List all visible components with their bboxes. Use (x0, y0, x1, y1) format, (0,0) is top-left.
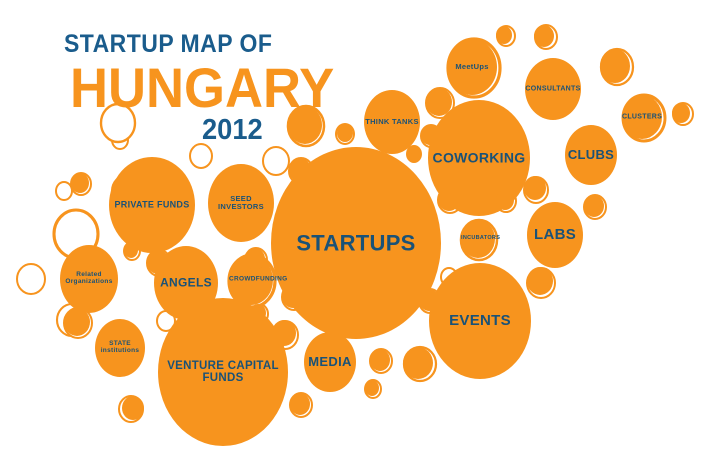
bubble-events[interactable] (429, 263, 531, 379)
decorative-bubble (290, 393, 310, 415)
decorative-bubble (534, 25, 554, 47)
bubble-private-funds[interactable] (109, 157, 195, 253)
decorative-bubble (282, 284, 304, 308)
bubble-meetups[interactable] (447, 39, 497, 95)
title-line-hungary: HUNGARY (70, 59, 334, 116)
decorative-bubble (147, 250, 169, 274)
decorative-bubble (584, 195, 604, 217)
bubble-clubs[interactable] (565, 125, 617, 185)
decorative-bubble (289, 158, 311, 182)
title-block: STARTUP MAP OF HUNGARY 2012 (64, 32, 351, 145)
title-line-startup-map-of: STARTUP MAP OF (64, 32, 328, 57)
decorative-bubble (406, 145, 422, 163)
decorative-bubble (403, 347, 433, 379)
bubble-think-tanks[interactable] (364, 90, 420, 154)
decorative-bubble (274, 241, 288, 257)
bubble-consultants[interactable] (525, 58, 581, 120)
startup-map-infographic: STARTUP MAP OF HUNGARY 2012 STARTUPSVENT… (0, 0, 714, 460)
decorative-bubble (370, 349, 390, 371)
decorative-bubble (524, 176, 546, 200)
decorative-bubble (250, 304, 266, 322)
decorative-bubble (71, 173, 89, 193)
decorative-bubble (122, 396, 144, 420)
decorative-bubble (421, 125, 439, 145)
decorative-ring (56, 182, 72, 200)
bubble-labs[interactable] (527, 202, 583, 268)
decorative-ring (17, 264, 45, 294)
bubble-clusters[interactable] (622, 95, 662, 139)
decorative-bubble (426, 88, 452, 116)
decorative-bubble (272, 320, 296, 346)
bubble-media[interactable] (304, 332, 356, 392)
decorative-bubble (496, 26, 512, 44)
bubble-state-institutions[interactable] (95, 319, 145, 377)
decorative-ring (263, 147, 289, 175)
bubble-seed-investors[interactable] (208, 164, 274, 242)
decorative-bubble (64, 308, 90, 336)
decorative-ring (190, 144, 212, 168)
decorative-bubble (600, 49, 630, 83)
bubble-incubators[interactable] (461, 220, 495, 258)
bubble-venture-capital-funds[interactable] (158, 298, 288, 446)
decorative-bubble (245, 248, 265, 270)
decorative-bubble (124, 242, 138, 258)
decorative-bubble (365, 380, 379, 396)
title-line-year: 2012 (202, 116, 342, 145)
decorative-bubble (527, 267, 553, 295)
decorative-bubble (496, 190, 514, 210)
bubble-related-organizations[interactable] (60, 245, 118, 313)
decorative-bubble (672, 103, 690, 123)
decorative-bubble (419, 289, 439, 311)
decorative-bubble (438, 187, 460, 211)
